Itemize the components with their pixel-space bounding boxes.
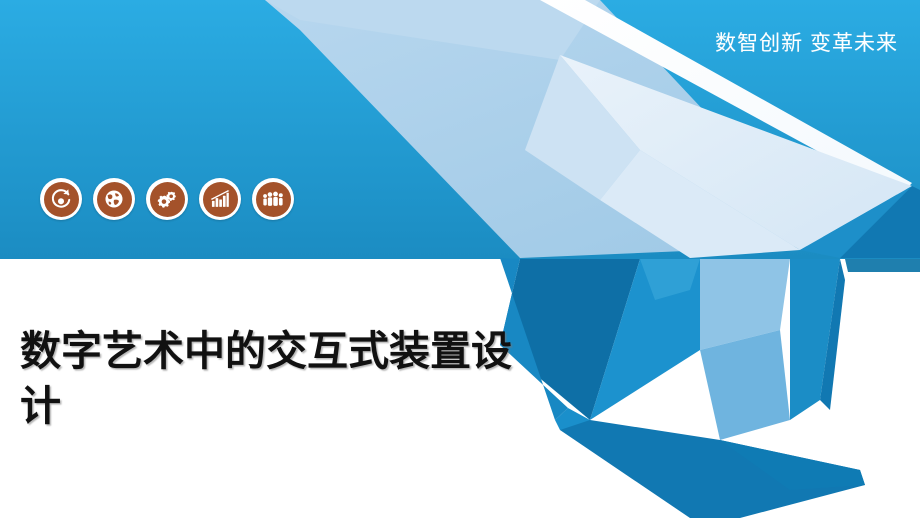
people-group-icon — [256, 182, 291, 217]
gears-icon — [150, 182, 185, 217]
globe-icon — [97, 182, 132, 217]
presentation-slide: 数智创新 变革未来 — [0, 0, 920, 518]
feature-icon-row — [40, 178, 294, 220]
page-title: 数字艺术中的交互式装置设计 — [20, 324, 530, 432]
refresh-arrow-icon — [44, 182, 79, 217]
icon-badge-bar-chart[interactable] — [199, 178, 241, 220]
band-separator — [0, 259, 500, 262]
icon-badge-gears[interactable] — [146, 178, 188, 220]
icon-badge-people-group[interactable] — [252, 178, 294, 220]
background-artwork — [0, 0, 920, 518]
icon-badge-globe[interactable] — [93, 178, 135, 220]
tagline-text: 数智创新 变革未来 — [715, 27, 898, 57]
icon-badge-refresh[interactable] — [40, 178, 82, 220]
bar-chart-icon — [203, 182, 238, 217]
polygon-steel-strip — [845, 259, 920, 272]
